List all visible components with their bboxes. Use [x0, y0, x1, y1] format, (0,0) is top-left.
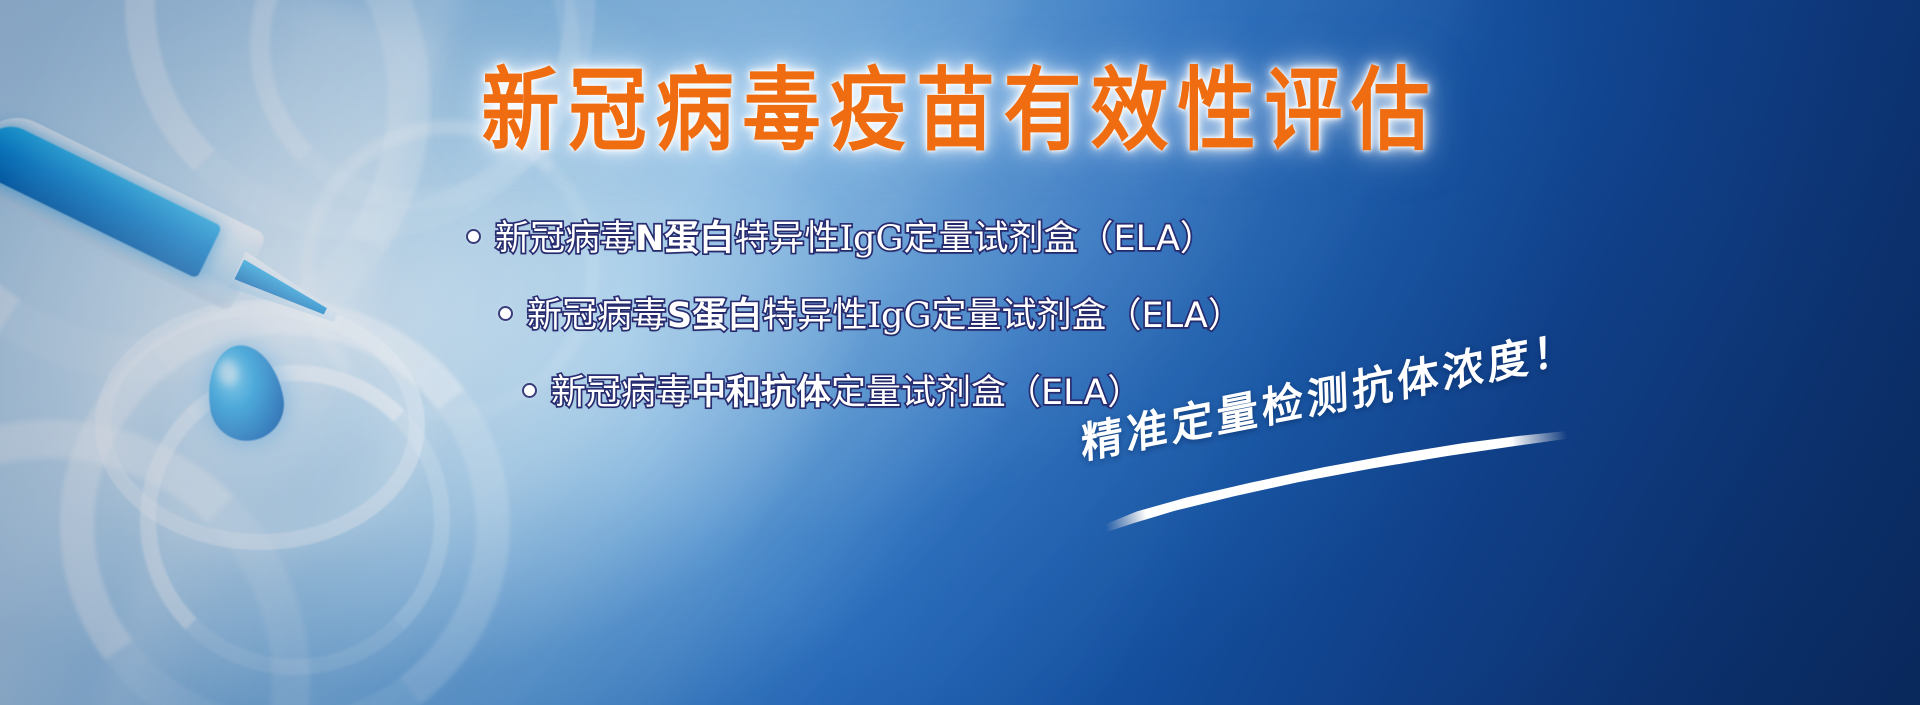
list-item-label: 新冠病毒S蛋白特异性IgG定量试剂盒（ELA）	[527, 287, 1243, 338]
glass-ring	[0, 420, 310, 705]
list-item-middle: 特异性	[762, 296, 867, 336]
headline-text: 新冠病毒疫苗有效性评估	[481, 64, 1438, 160]
promo-banner: 新冠病毒疫苗有效性评估 新冠病毒N蛋白特异性IgG定量试剂盒（ELA） 新冠病毒…	[0, 0, 1920, 705]
list-item-label: 新冠病毒N蛋白特异性IgG定量试剂盒（ELA）	[495, 210, 1215, 261]
list-item-latin: IgG	[839, 219, 903, 259]
list-item-middle: 特异性	[734, 219, 839, 259]
list-item-label: 新冠病毒中和抗体定量试剂盒（ELA）	[551, 364, 1142, 415]
bullet-dot-icon	[524, 385, 535, 396]
list-item-prefix: 新冠病毒	[527, 296, 667, 336]
bullet-dot-icon	[468, 231, 479, 242]
banner-headline: 新冠病毒疫苗有效性评估	[0, 64, 1920, 147]
list-item-prefix: 新冠病毒	[551, 373, 691, 413]
list-item-emphasis: N蛋白	[635, 219, 734, 259]
list-item-suffix: 定量试剂盒（ELA）	[931, 296, 1242, 336]
list-item: 新冠病毒中和抗体定量试剂盒（ELA）	[0, 364, 1920, 415]
list-item: 新冠病毒N蛋白特异性IgG定量试剂盒（ELA）	[0, 210, 1920, 261]
list-item: 新冠病毒S蛋白特异性IgG定量试剂盒（ELA）	[0, 287, 1920, 338]
list-item-suffix: 定量试剂盒（ELA）	[904, 219, 1215, 259]
list-item-prefix: 新冠病毒	[495, 219, 635, 259]
tagline-block: 精准定量检测抗体浓度！	[1080, 410, 1640, 590]
list-item-emphasis: 中和抗体	[691, 373, 831, 413]
list-item-latin: IgG	[867, 296, 931, 336]
product-list: 新冠病毒N蛋白特异性IgG定量试剂盒（ELA） 新冠病毒S蛋白特异性IgG定量试…	[0, 210, 1920, 441]
bullet-dot-icon	[500, 308, 511, 319]
list-item-emphasis: S蛋白	[667, 296, 762, 336]
